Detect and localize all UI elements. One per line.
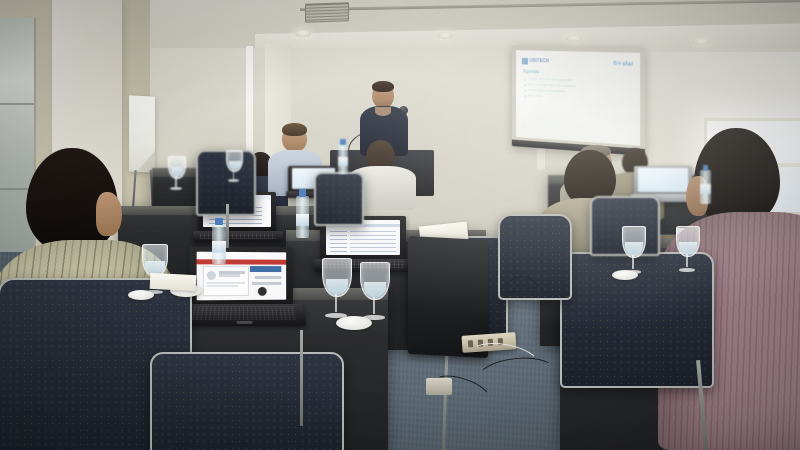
slide-surface: UBITECH fi✶star Agenda Project overview … bbox=[516, 50, 640, 145]
chair-leg bbox=[226, 204, 229, 248]
chair-leg bbox=[300, 330, 303, 426]
slide-bullet-list: Project overview and objectives Work pac… bbox=[522, 77, 634, 102]
power-adapter bbox=[426, 378, 452, 395]
chair[interactable] bbox=[314, 172, 364, 226]
fistar-logo-suffix: star bbox=[622, 61, 633, 67]
slide-header: UBITECH fi✶star bbox=[522, 56, 634, 70]
avatar-icon bbox=[207, 270, 216, 279]
fistar-logo: fi✶star bbox=[614, 61, 634, 67]
conference-room-photo: UBITECH fi✶star Agenda Project overview … bbox=[0, 0, 800, 450]
wine-glass[interactable] bbox=[360, 262, 388, 320]
wine-glass[interactable] bbox=[322, 258, 350, 318]
ubitech-logo: UBITECH bbox=[522, 58, 549, 65]
ceiling-downlight-icon bbox=[693, 38, 709, 45]
laptop-screen-sidebar bbox=[330, 229, 346, 252]
water-bottle[interactable] bbox=[212, 224, 226, 264]
projection-screen: UBITECH fi✶star Agenda Project overview … bbox=[512, 45, 645, 156]
laptop-screen-button bbox=[250, 266, 282, 272]
ceiling-downlight-icon bbox=[437, 32, 453, 39]
coaster[interactable] bbox=[128, 290, 154, 300]
attendee-hair bbox=[282, 123, 307, 136]
water-bottle[interactable] bbox=[296, 196, 309, 238]
ceiling-vent-icon bbox=[305, 2, 349, 23]
laptop-front[interactable] bbox=[186, 247, 296, 337]
coaster[interactable] bbox=[336, 316, 372, 330]
attendee-ear bbox=[96, 192, 122, 236]
ceiling-downlight-icon bbox=[566, 35, 582, 42]
laptop-screen bbox=[197, 251, 286, 300]
laptop-screen-panel bbox=[202, 266, 249, 296]
wine-glass[interactable] bbox=[168, 156, 184, 190]
water-bottle[interactable] bbox=[700, 170, 711, 204]
wine-glass[interactable] bbox=[676, 226, 698, 272]
paper-sheet[interactable] bbox=[150, 273, 197, 291]
slide-page-number: 1 bbox=[523, 122, 524, 126]
wine-glass[interactable] bbox=[622, 226, 644, 274]
laptop-screen-dot-icon bbox=[258, 287, 267, 296]
grid-logo-icon bbox=[522, 58, 528, 65]
presenter-hair bbox=[372, 81, 394, 92]
water-bottle[interactable] bbox=[338, 144, 348, 174]
trackpad[interactable] bbox=[237, 321, 253, 323]
wine-glass[interactable] bbox=[226, 150, 241, 182]
ubitech-logo-text: UBITECH bbox=[529, 59, 549, 64]
laptop-screen-content bbox=[350, 229, 396, 252]
ceiling-downlight-icon bbox=[295, 30, 311, 37]
presenter-collar bbox=[375, 107, 391, 116]
chair[interactable] bbox=[150, 352, 344, 450]
coaster[interactable] bbox=[612, 270, 638, 280]
